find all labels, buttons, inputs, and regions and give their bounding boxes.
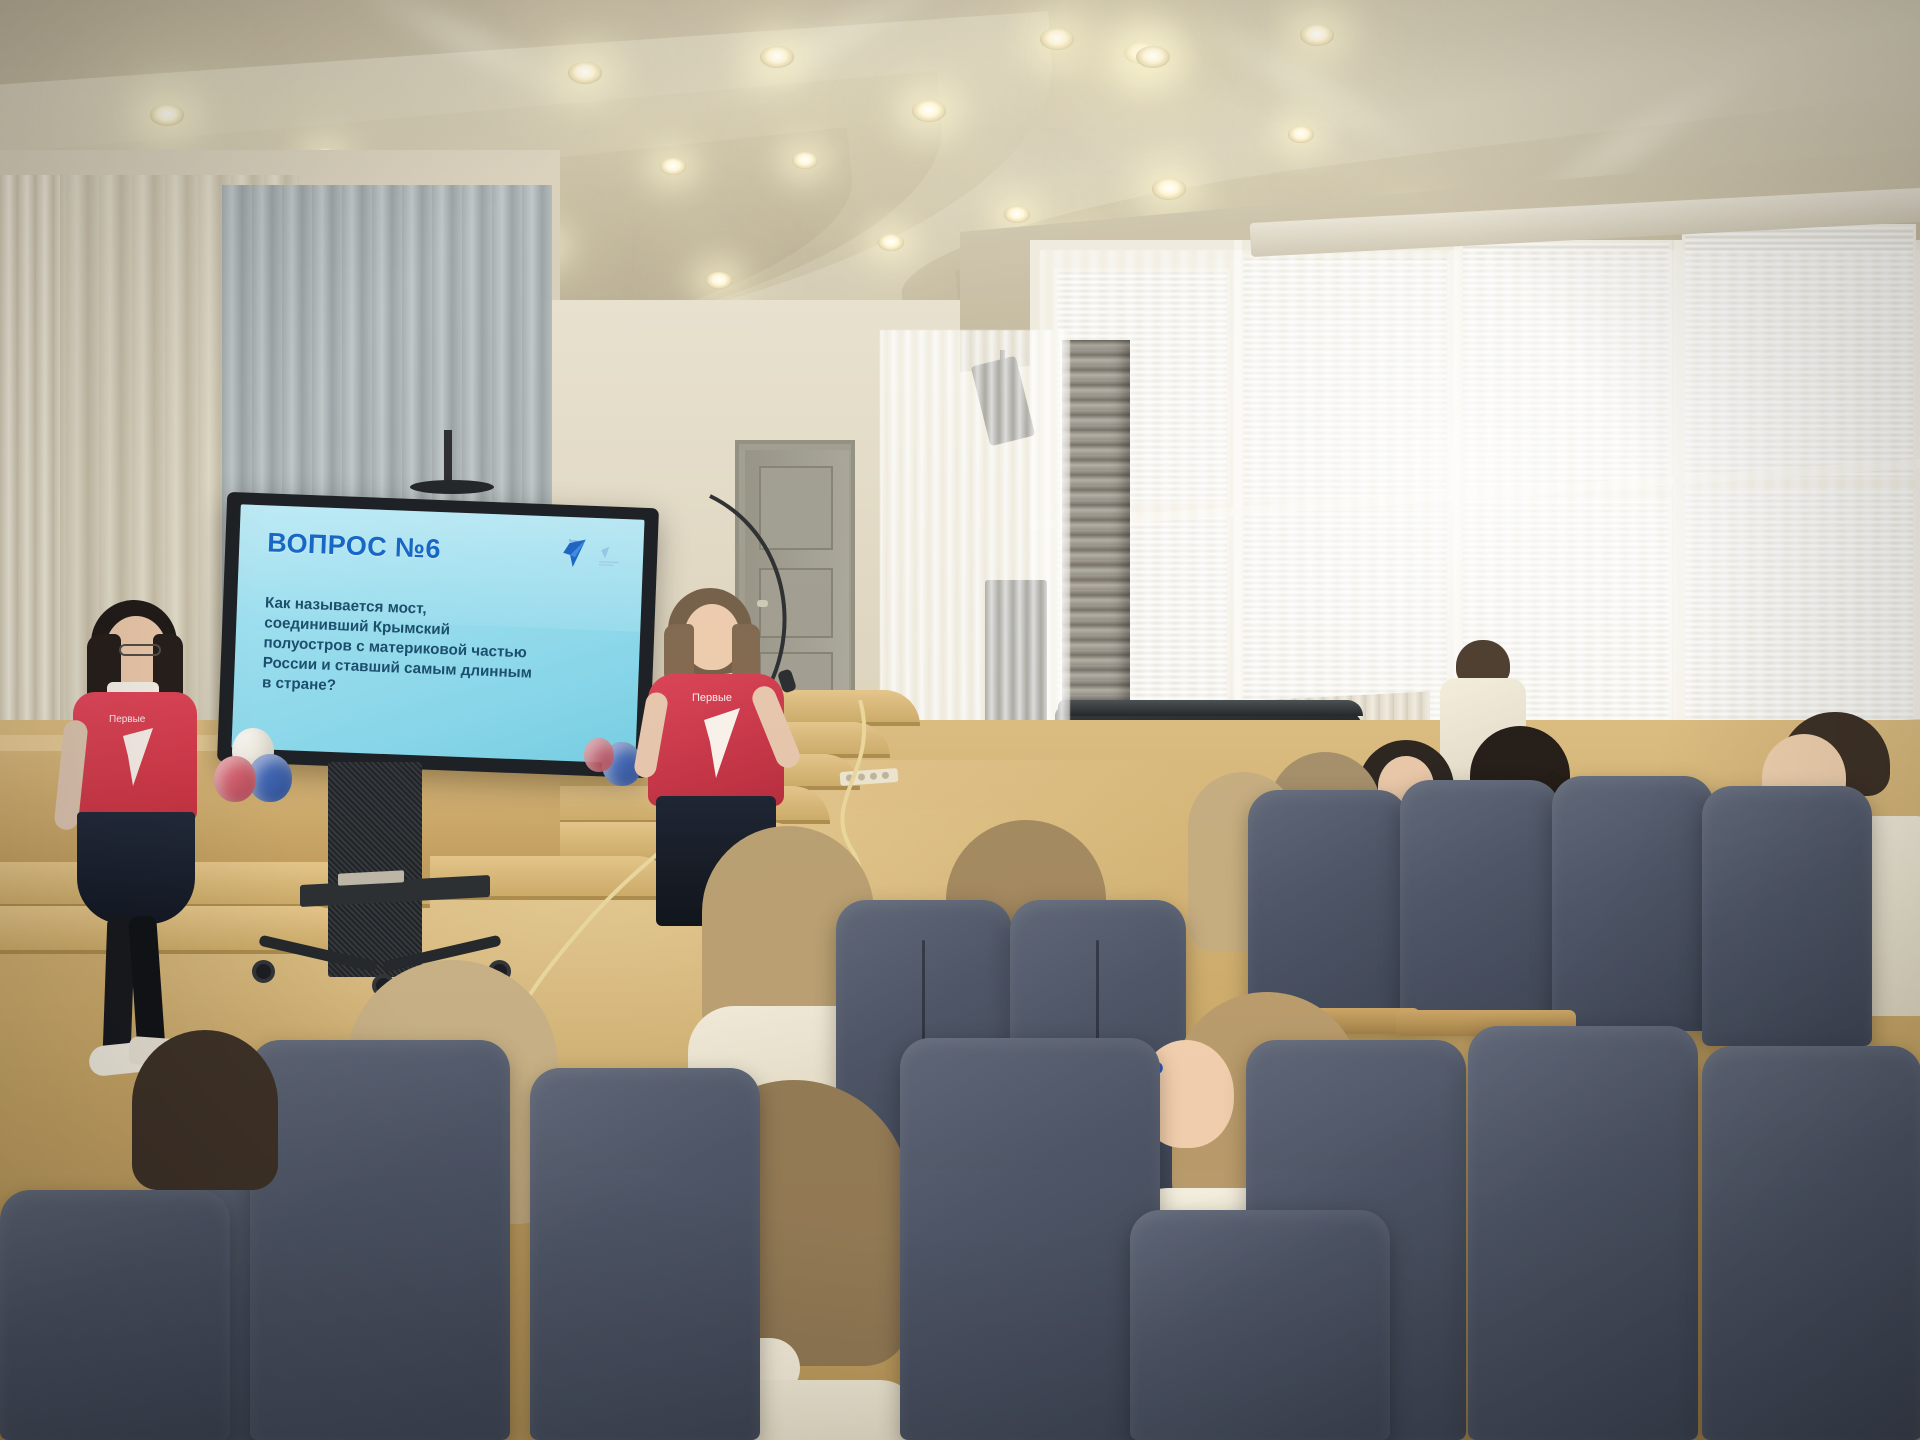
skirt xyxy=(77,812,195,924)
slide-title: ВОПРОС №6 xyxy=(267,527,442,565)
auditorium-seat[interactable] xyxy=(1130,1210,1390,1440)
tv-mount-pole xyxy=(444,430,452,486)
auditorium-seat[interactable] xyxy=(1552,776,1714,1031)
auditorium-seat[interactable] xyxy=(1702,1046,1920,1440)
ceiling-light xyxy=(1300,24,1334,46)
auditorium-photo: ВОПРОС №6 Как называется мост, соединивш… xyxy=(0,0,1920,1440)
ceiling-light xyxy=(1152,178,1186,200)
auditorium-seat[interactable] xyxy=(900,1038,1160,1440)
auditorium-seat[interactable] xyxy=(1702,786,1872,1046)
grand-piano-lid xyxy=(1058,700,1363,716)
ceiling-light xyxy=(760,46,794,68)
ceiling-light xyxy=(1136,46,1170,68)
tv-stand-column xyxy=(328,762,422,977)
tshirt-brand-label: Первые xyxy=(692,692,732,704)
presentation-screen[interactable]: ВОПРОС №6 Как называется мост, соединивш… xyxy=(231,504,644,763)
ceiling-light xyxy=(912,100,946,122)
ceiling-light xyxy=(568,62,602,84)
slide-question-text: Как называется мост, соединивший Крымски… xyxy=(262,593,606,706)
stone-column xyxy=(1062,340,1130,740)
tv-mount-plate xyxy=(410,480,494,494)
tshirt-brand-label: Первые xyxy=(109,714,145,725)
presenter-left: Первые xyxy=(55,600,255,1080)
ceiling-light xyxy=(878,234,904,251)
ceiling-light xyxy=(792,152,818,169)
ceiling-light xyxy=(660,158,686,175)
pervye-logo-icon: Первые xyxy=(559,537,626,574)
audience-person xyxy=(120,1030,290,1250)
balloon-red-right xyxy=(584,738,614,772)
svg-text:Первые: Первые xyxy=(569,539,582,543)
hair xyxy=(132,1030,278,1190)
ceiling-light xyxy=(1004,206,1030,223)
auditorium-seat[interactable] xyxy=(1400,780,1560,1030)
ceiling-light xyxy=(706,272,732,289)
pervye-arrow-icon xyxy=(696,706,748,782)
auditorium-seat[interactable] xyxy=(1468,1026,1698,1440)
caster-wheel xyxy=(252,960,275,983)
pervye-arrow-icon xyxy=(117,726,161,790)
auditorium-seat[interactable] xyxy=(530,1068,760,1440)
glasses-icon xyxy=(119,644,161,656)
ceiling-light xyxy=(1288,126,1314,143)
ceiling-light xyxy=(1040,28,1074,50)
tshirt: Первые xyxy=(73,692,197,822)
ceiling-light xyxy=(150,104,184,126)
